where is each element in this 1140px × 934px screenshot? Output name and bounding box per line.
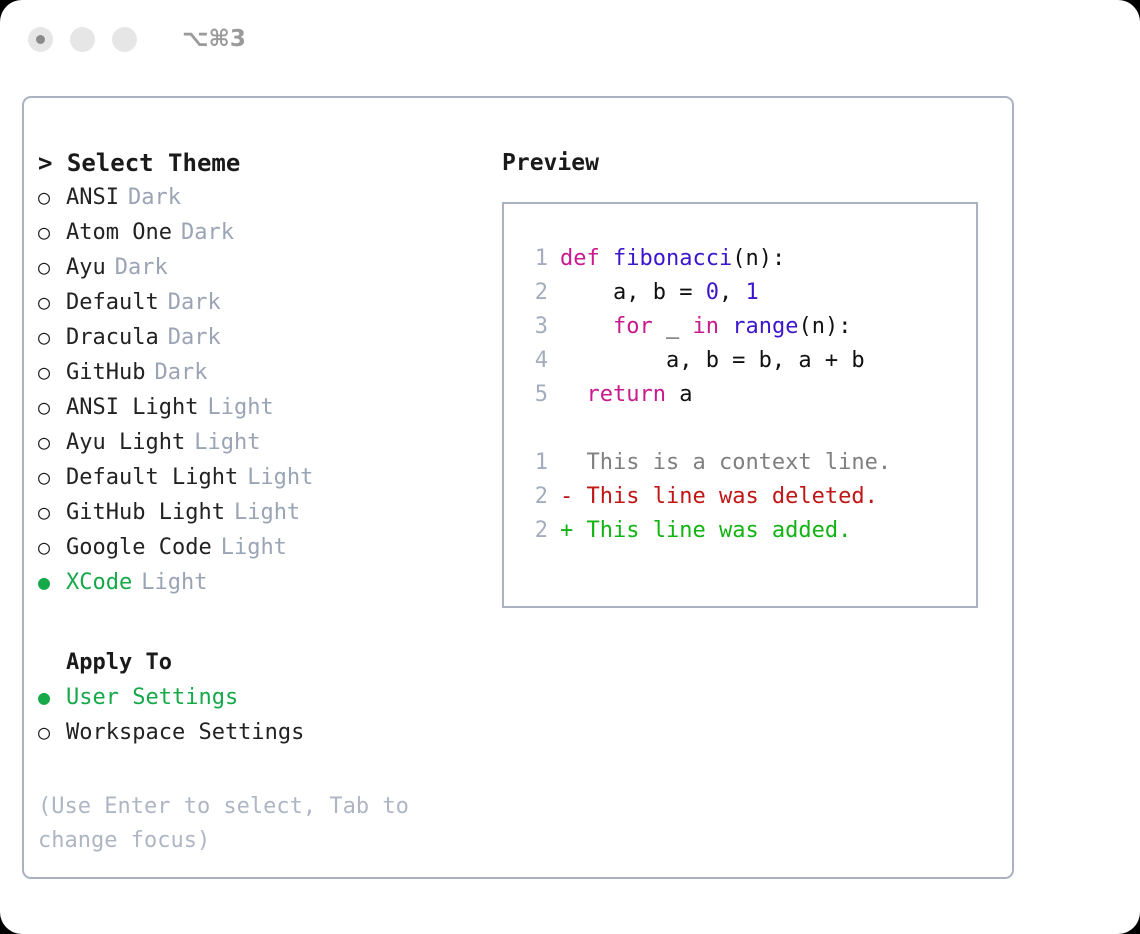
radio-unselected-icon: ○ <box>38 215 66 249</box>
theme-list[interactable]: ○ANSIDark○Atom OneDark○AyuDark○DefaultDa… <box>38 180 488 600</box>
code-token-pl: (n): <box>798 314 851 339</box>
window-controls <box>28 27 137 52</box>
diff-line-number: 1 <box>518 446 560 480</box>
theme-option-xcode[interactable]: ●XCodeLight <box>38 565 488 600</box>
apply-to-option-user-settings[interactable]: ●User Settings <box>38 680 488 715</box>
diff-line-number: 2 <box>518 480 560 514</box>
theme-option-label: Ayu <box>66 251 106 285</box>
code-line-text: return a <box>560 378 692 412</box>
diff-line-del: 2- This line was deleted. <box>518 480 976 514</box>
diff-line-ctx: 1 This is a context line. <box>518 446 976 480</box>
radio-unselected-icon: ○ <box>38 715 66 749</box>
theme-option-label: ANSI Light <box>66 391 198 425</box>
theme-option-variant-tag: Light <box>185 426 260 460</box>
code-line-number: 3 <box>518 310 560 344</box>
code-token-kw: in <box>692 314 719 339</box>
code-line: 2 a, b = 0, 1 <box>518 276 976 310</box>
code-line: 5 return a <box>518 378 976 412</box>
code-token-kw: return <box>587 382 666 407</box>
diff-text: This line was deleted. <box>587 484 878 509</box>
code-token-pl: a, b = b, a + b <box>560 348 865 373</box>
radio-unselected-icon: ○ <box>38 390 66 424</box>
code-token-kw: for <box>613 314 653 339</box>
code-line: 3 for _ in range(n): <box>518 310 976 344</box>
theme-option-ayu[interactable]: ○AyuDark <box>38 250 488 285</box>
diff-sample: 1 This is a context line.2- This line wa… <box>518 446 976 548</box>
radio-unselected-icon: ○ <box>38 250 66 284</box>
theme-option-label: Dracula <box>66 321 159 355</box>
diff-marker <box>560 450 587 475</box>
theme-option-label: XCode <box>66 566 132 600</box>
code-token-num: 1 <box>745 280 758 305</box>
theme-option-variant-tag: Dark <box>172 216 234 250</box>
theme-option-variant-tag: Light <box>198 391 273 425</box>
theme-option-label: Atom One <box>66 216 172 250</box>
theme-option-default-light[interactable]: ○Default LightLight <box>38 460 488 495</box>
code-diff-separator <box>518 412 976 446</box>
keyboard-hint-text: (Use Enter to select, Tab to change focu… <box>38 790 448 858</box>
theme-option-label: Ayu Light <box>66 426 185 460</box>
code-token-pl <box>560 314 613 339</box>
select-theme-header: > Select Theme <box>38 146 488 180</box>
code-token-pl <box>719 314 732 339</box>
radio-unselected-icon: ○ <box>38 285 66 319</box>
theme-option-variant-tag: Dark <box>145 356 207 390</box>
apply-to-option-label: Workspace Settings <box>66 716 304 750</box>
apply-to-option-label: User Settings <box>66 681 238 715</box>
apply-to-option-workspace-settings[interactable]: ○Workspace Settings <box>38 715 488 750</box>
theme-option-variant-tag: Dark <box>119 181 181 215</box>
theme-option-label: Default <box>66 286 159 320</box>
theme-option-atom-one[interactable]: ○Atom OneDark <box>38 215 488 250</box>
theme-option-variant-tag: Light <box>132 566 207 600</box>
theme-option-google-code[interactable]: ○Google CodeLight <box>38 530 488 565</box>
code-line-number: 1 <box>518 242 560 276</box>
code-token-fn: range <box>732 314 798 339</box>
diff-line-text: This is a context line. <box>560 446 891 480</box>
code-line-number: 4 <box>518 344 560 378</box>
theme-option-ansi-light[interactable]: ○ANSI LightLight <box>38 390 488 425</box>
code-line-text: a, b = b, a + b <box>560 344 865 378</box>
code-sample: 1def fibonacci(n):2 a, b = 0, 13 for _ i… <box>518 242 976 412</box>
diff-line-add: 2+ This line was added. <box>518 514 976 548</box>
app-root: ⌥⌘3 > Select Theme ○ANSIDark○Atom OneDar… <box>0 0 1140 934</box>
maximize-button-icon[interactable] <box>112 27 137 52</box>
code-token-pl: a <box>666 382 693 407</box>
theme-option-variant-tag: Dark <box>159 286 221 320</box>
radio-selected-icon: ● <box>38 680 66 714</box>
code-token-pl: a, b = <box>560 280 706 305</box>
theme-option-variant-tag: Light <box>212 531 287 565</box>
radio-unselected-icon: ○ <box>38 180 66 214</box>
diff-line-number: 2 <box>518 514 560 548</box>
theme-option-github-light[interactable]: ○GitHub LightLight <box>38 495 488 530</box>
apply-to-header: Apply To <box>38 646 488 680</box>
code-token-pl: (n): <box>732 246 785 271</box>
code-line-number: 5 <box>518 378 560 412</box>
code-line-text: def fibonacci(n): <box>560 242 785 276</box>
diff-line-text: - This line was deleted. <box>560 480 878 514</box>
radio-selected-icon: ● <box>38 565 66 599</box>
preview-column: Preview 1def fibonacci(n):2 a, b = 0, 13… <box>502 146 1002 608</box>
diff-marker: - <box>560 484 587 509</box>
minimize-button-icon[interactable] <box>70 27 95 52</box>
theme-option-default[interactable]: ○DefaultDark <box>38 285 488 320</box>
code-token-pl <box>560 382 587 407</box>
code-token-pl: , <box>719 280 746 305</box>
code-line-text: for _ in range(n): <box>560 310 851 344</box>
window-titlebar: ⌥⌘3 <box>0 0 1140 78</box>
theme-option-ayu-light[interactable]: ○Ayu LightLight <box>38 425 488 460</box>
code-token-num: 0 <box>706 280 719 305</box>
theme-option-github[interactable]: ○GitHubDark <box>38 355 488 390</box>
theme-option-label: GitHub Light <box>66 496 225 530</box>
theme-option-dracula[interactable]: ○DraculaDark <box>38 320 488 355</box>
code-token-kw: def <box>560 246 613 271</box>
code-line: 4 a, b = b, a + b <box>518 344 976 378</box>
theme-option-label: ANSI <box>66 181 119 215</box>
preview-title: Preview <box>502 146 1002 180</box>
theme-option-label: Google Code <box>66 531 212 565</box>
code-token-fn: fibonacci <box>613 246 732 271</box>
radio-unselected-icon: ○ <box>38 495 66 529</box>
radio-unselected-icon: ○ <box>38 355 66 389</box>
code-token-pl: _ <box>653 314 693 339</box>
theme-option-label: Default Light <box>66 461 238 495</box>
radio-unselected-icon: ○ <box>38 320 66 354</box>
theme-option-variant-tag: Light <box>238 461 313 495</box>
radio-unselected-icon: ○ <box>38 530 66 564</box>
code-line-text: a, b = 0, 1 <box>560 276 759 310</box>
diff-text: This line was added. <box>587 518 852 543</box>
diff-line-text: + This line was added. <box>560 514 851 548</box>
diff-text: This is a context line. <box>587 450 892 475</box>
close-button-icon[interactable] <box>28 27 53 52</box>
radio-unselected-icon: ○ <box>38 460 66 494</box>
theme-picker-panel: > Select Theme ○ANSIDark○Atom OneDark○Ay… <box>22 96 1014 879</box>
preview-box: 1def fibonacci(n):2 a, b = 0, 13 for _ i… <box>502 202 978 608</box>
code-line: 1def fibonacci(n): <box>518 242 976 276</box>
theme-option-label: GitHub <box>66 356 145 390</box>
theme-option-variant-tag: Light <box>225 496 300 530</box>
theme-option-variant-tag: Dark <box>106 251 168 285</box>
diff-marker: + <box>560 518 587 543</box>
keyboard-shortcut-label: ⌥⌘3 <box>182 26 246 52</box>
theme-option-ansi[interactable]: ○ANSIDark <box>38 180 488 215</box>
active-dot-inner <box>36 35 45 44</box>
radio-unselected-icon: ○ <box>38 425 66 459</box>
code-line-number: 2 <box>518 276 560 310</box>
apply-to-list[interactable]: ●User Settings○Workspace Settings <box>38 680 488 750</box>
theme-option-variant-tag: Dark <box>159 321 221 355</box>
theme-selection-column: > Select Theme ○ANSIDark○Atom OneDark○Ay… <box>38 146 488 858</box>
